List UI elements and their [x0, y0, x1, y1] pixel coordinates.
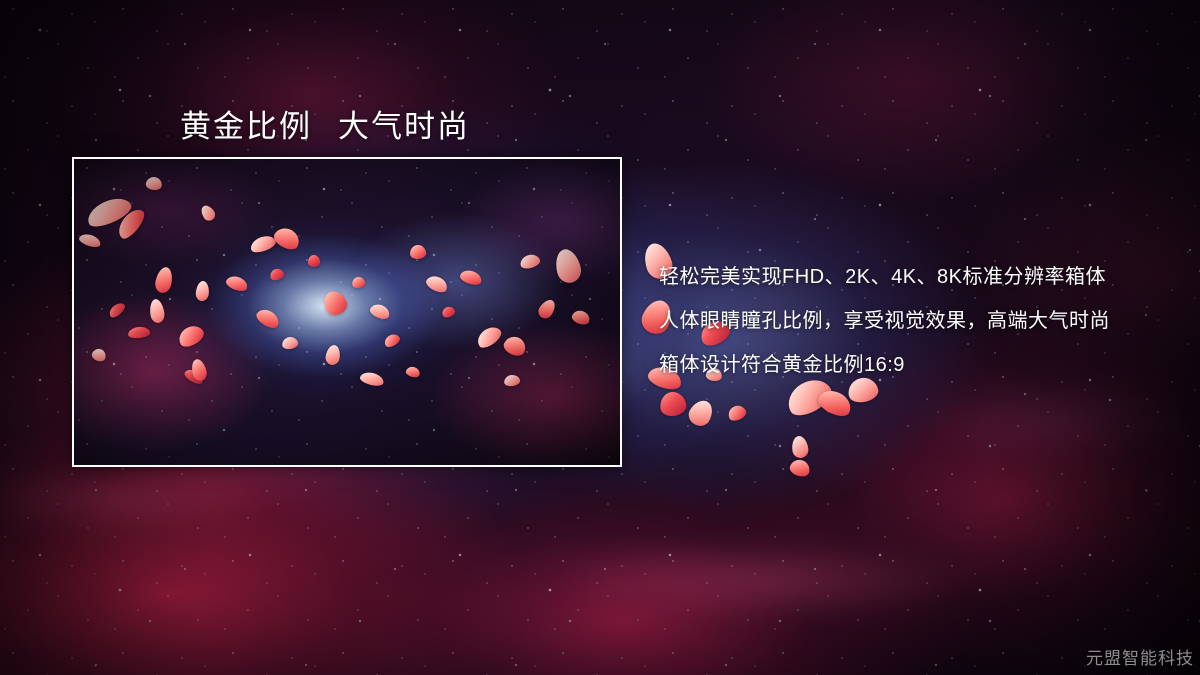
petal — [685, 396, 717, 430]
slide-title: 黄金比例大气时尚 — [180, 101, 470, 146]
body-line-3: 箱体设计符合黄金比例16:9 — [659, 343, 1159, 387]
watermark-text: 元盟智能科技 — [1086, 644, 1194, 669]
petal — [788, 457, 812, 478]
body-line-2: 人体眼睛瞳孔比例，享受视觉效果，高端大气时尚 — [659, 299, 1159, 343]
slide-title-part1: 黄金比例 — [180, 109, 312, 144]
petal — [815, 386, 855, 421]
slide-body-text: 轻松完美实现FHD、2K、4K、8K标准分辨率箱体 人体眼睛瞳孔比例，享受视觉效… — [659, 255, 1159, 387]
petal — [791, 435, 810, 459]
slide-title-part2: 大气时尚 — [338, 109, 470, 144]
framed-image-vignette — [74, 159, 620, 465]
framed-image — [72, 157, 622, 467]
presentation-slide: 黄金比例大气时尚 轻松完美实现FHD、2K、4K、8K标准分辨率箱体 人体眼睛瞳… — [0, 0, 1200, 675]
petal — [658, 390, 688, 418]
petal — [726, 403, 748, 423]
body-line-1: 轻松完美实现FHD、2K、4K、8K标准分辨率箱体 — [659, 255, 1159, 299]
